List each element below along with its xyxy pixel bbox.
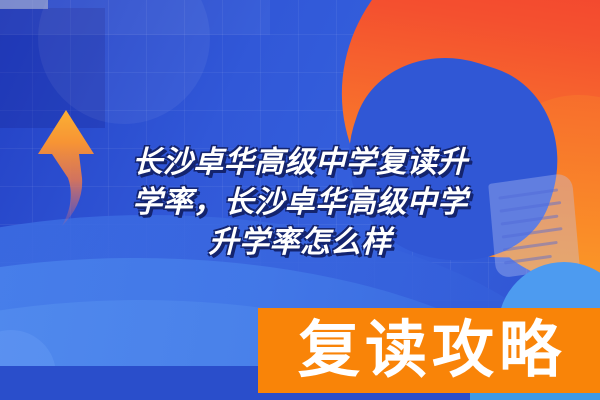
poster-canvas: 长沙卓华高级中学复读升 学率，长沙卓华高级中学 升学率怎么样 复读攻略: [0, 0, 600, 400]
status-badge: 复读攻略: [258, 308, 600, 393]
page-title: 长沙卓华高级中学复读升 学率，长沙卓华高级中学 升学率怎么样: [50, 143, 550, 263]
corner-chip: [0, 0, 48, 9]
banner-label: 复读攻略: [292, 320, 566, 382]
